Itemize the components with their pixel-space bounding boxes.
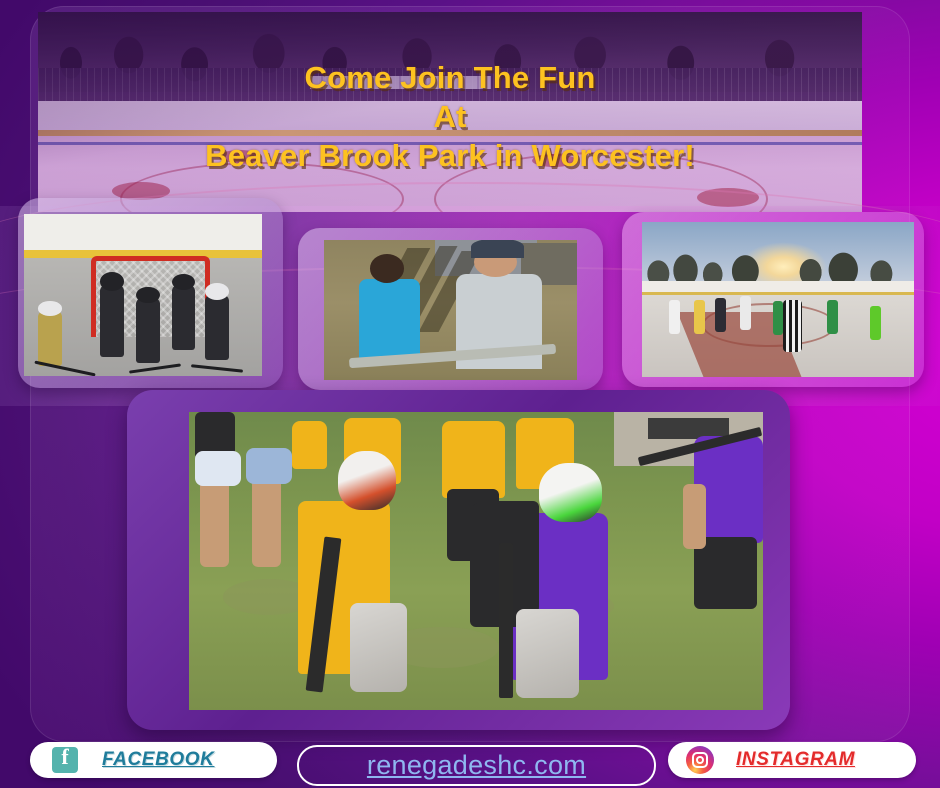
flyer-canvas: Come Join The Fun At Beaver Brook Park i… bbox=[0, 0, 940, 788]
player-figure bbox=[38, 311, 62, 366]
treeline bbox=[642, 250, 914, 284]
rink-wall bbox=[24, 214, 262, 250]
player-figure bbox=[172, 285, 196, 350]
player-figure bbox=[715, 298, 726, 332]
background-player-yellow bbox=[292, 421, 326, 469]
scene-rink-net bbox=[24, 214, 262, 376]
boy-blue-shirt bbox=[359, 279, 420, 363]
player-helmet bbox=[100, 272, 124, 291]
player-figure bbox=[100, 285, 124, 356]
player-helmet bbox=[205, 283, 229, 300]
scene-grass-field bbox=[189, 412, 763, 710]
goalie-stick bbox=[499, 543, 513, 698]
baseball-cap bbox=[471, 240, 524, 258]
scene-dusk-rink bbox=[642, 222, 914, 377]
goalie-purple-helmet bbox=[539, 463, 602, 523]
photo-team-at-net bbox=[24, 214, 262, 376]
player-helmet bbox=[172, 274, 196, 291]
instagram-icon bbox=[686, 746, 714, 774]
instagram-button[interactable]: INSTAGRAM bbox=[668, 742, 916, 778]
player-figure bbox=[870, 306, 881, 340]
facebook-icon bbox=[52, 747, 78, 773]
player-figure bbox=[669, 300, 680, 334]
player-figure bbox=[694, 300, 705, 334]
facebook-label: FACEBOOK bbox=[102, 749, 214, 771]
coach-shorts bbox=[694, 537, 757, 609]
photo-goalies-on-grass bbox=[189, 412, 763, 710]
page-title: Come Join The Fun At Beaver Brook Park i… bbox=[38, 58, 862, 175]
background-player-yellow bbox=[442, 421, 505, 498]
website-button[interactable]: renegadeshc.com bbox=[297, 745, 656, 786]
title-line-2: At bbox=[38, 97, 862, 136]
player-figure bbox=[136, 298, 160, 363]
player-figure bbox=[205, 295, 229, 360]
facebook-button[interactable]: FACEBOOK bbox=[30, 742, 277, 778]
instagram-label: INSTAGRAM bbox=[736, 749, 855, 771]
player-helmet bbox=[38, 301, 62, 315]
website-label: renegadeshc.com bbox=[367, 750, 586, 781]
player-figure bbox=[827, 300, 838, 334]
photo-dusk-rink bbox=[642, 222, 914, 377]
player-figure bbox=[740, 296, 751, 330]
spectator-shorts bbox=[246, 448, 292, 484]
player-figure bbox=[773, 301, 784, 335]
scene-outdoors bbox=[324, 240, 577, 380]
spectator-shorts bbox=[195, 451, 241, 487]
boy-head bbox=[370, 254, 404, 283]
goalie-yellow-leg-pad bbox=[350, 603, 407, 692]
coach-arm bbox=[683, 484, 706, 550]
goalie-yellow-helmet bbox=[338, 451, 395, 511]
referee-figure bbox=[783, 300, 802, 353]
player-helmet bbox=[136, 287, 160, 304]
title-line-1: Come Join The Fun bbox=[38, 58, 862, 97]
title-line-3: Beaver Brook Park in Worcester! bbox=[38, 136, 862, 175]
goalie-purple-leg-pad bbox=[516, 609, 579, 698]
photo-two-boys-outdoors bbox=[324, 240, 577, 380]
